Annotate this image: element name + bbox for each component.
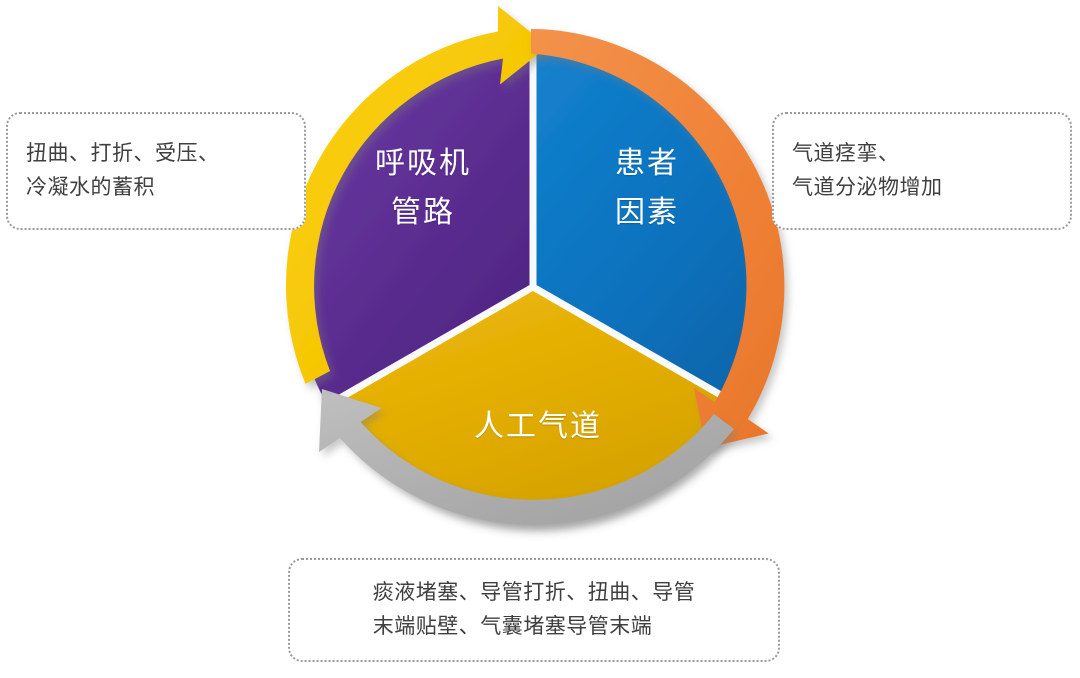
callout-ventilator-circuit: 扭曲、打折、受压、 冷凝水的蓄积: [6, 112, 306, 230]
callout-patient-factors: 气道痉挛、 气道分泌物增加: [772, 112, 1072, 230]
callout-artificial-airway: 痰液堵塞、导管打折、扭曲、导管 末端贴壁、气囊堵塞导管末端: [288, 558, 780, 662]
cycle-diagram: [248, 0, 818, 570]
diagram-canvas: 呼吸机 管路 患者 因素 人工气道 扭曲、打折、受压、 冷凝水的蓄积 气道痉挛、…: [0, 0, 1080, 678]
